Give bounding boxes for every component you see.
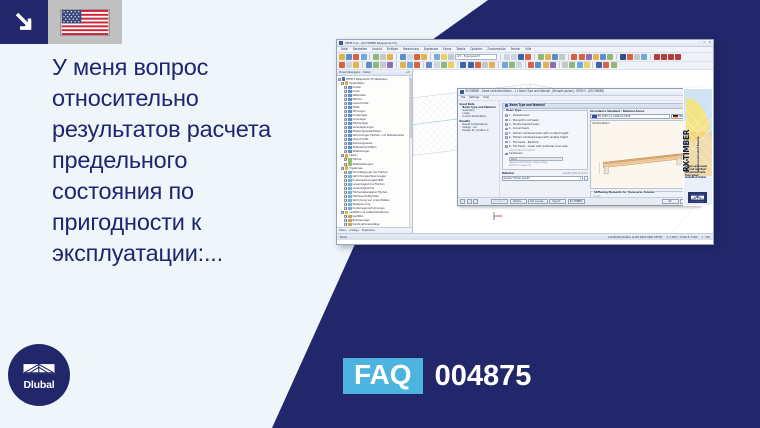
footer-icon-button[interactable] <box>467 199 472 204</box>
calculation-button[interactable]: Calculation <box>491 199 508 204</box>
toolbar-separator <box>592 62 593 68</box>
expand-icon[interactable]: + <box>344 175 347 178</box>
expand-icon[interactable]: + <box>344 150 347 153</box>
toolbar-separator <box>362 62 363 68</box>
toolbar-button[interactable] <box>380 62 386 68</box>
model-workarea[interactable]: RX-TIMBER - Glued Laminated Beam - 1.1 B… <box>413 70 713 233</box>
menu-item[interactable]: Einfügen <box>387 48 398 52</box>
toolbar-button[interactable] <box>366 62 372 68</box>
expand-icon[interactable]: + <box>344 215 347 218</box>
tree-node-icon <box>348 114 351 117</box>
tree-node-icon <box>348 207 351 210</box>
menu-item[interactable]: Ergebnisse <box>424 48 438 52</box>
transverse-tension-fieldset: Stiffening Elements for Transverse Tensi… <box>590 191 697 197</box>
cantilevers-checkbox[interactable]: Cantilevers <box>505 152 585 156</box>
expand-icon[interactable]: + <box>344 223 347 226</box>
expand-icon[interactable]: + <box>344 106 347 109</box>
beam-type-legend: Beam Type <box>505 109 522 112</box>
report-button[interactable]: Report... <box>549 199 566 204</box>
option-label: 4 - Curved beam <box>509 127 529 130</box>
dlubal-frame-icon <box>22 360 56 379</box>
radio-icon[interactable] <box>505 145 508 148</box>
toolbar-button[interactable] <box>421 54 427 60</box>
toolbar-button[interactable] <box>504 54 510 60</box>
tree-node-icon <box>348 94 351 97</box>
tree-node-icon <box>348 90 351 93</box>
beam-type-fieldset: Beam Type 1 - Parallel beam 2 - Monopitc… <box>502 110 588 170</box>
toolbar-button[interactable] <box>661 54 667 60</box>
banner-logo <box>688 192 707 203</box>
tree-node-icon <box>348 179 351 182</box>
slide-canvas: У меня вопрос относительно результатов р… <box>0 0 760 428</box>
toolbar-button[interactable] <box>482 62 488 68</box>
tree-node-label: Flächenschnittgrößen <box>353 195 379 198</box>
status-message: Bereit <box>340 235 347 238</box>
toolbar-button[interactable] <box>373 62 379 68</box>
toolbar-button[interactable] <box>571 54 577 60</box>
radio-icon[interactable] <box>505 128 508 131</box>
tree-node-icon <box>348 142 351 145</box>
navigator-tab[interactable]: Anzeige <box>349 229 359 232</box>
expand-icon[interactable]: + <box>341 154 344 157</box>
expand-icon[interactable]: + <box>344 199 347 202</box>
tree-node-label: Knoten <box>353 85 362 88</box>
menu-item[interactable]: Fenster <box>511 48 521 52</box>
toolbar-button[interactable] <box>460 62 466 68</box>
app-body: Project Navigator - Daten ▫✕ +RFEM 5 Bei… <box>337 70 713 233</box>
parallel-beam-drawing <box>591 121 696 188</box>
radio-icon[interactable] <box>505 119 508 122</box>
beam-preview: Parallel Beam <box>590 120 697 189</box>
language-bar <box>0 0 122 44</box>
expand-icon[interactable]: + <box>344 134 347 137</box>
toolbar-button[interactable] <box>387 54 393 60</box>
navigator-title: Project Navigator - Daten <box>339 71 371 75</box>
toolbar-button[interactable] <box>373 54 379 60</box>
dialog-section-header: Beam Type and Material <box>502 103 697 109</box>
dialog-footer: Calculation Details... Set. Access... Re… <box>458 197 699 205</box>
navigator-tab[interactable]: Ergebnisse <box>362 229 375 232</box>
toolbar-button[interactable] <box>543 62 549 68</box>
toolbar-button[interactable] <box>545 54 551 60</box>
tree-node-icon <box>348 138 351 141</box>
tree-node-label: Flächenlastangaben Flächen <box>353 191 388 194</box>
toolbar-button[interactable] <box>475 62 481 68</box>
faq-badge: FAQ <box>343 358 423 394</box>
tree-node-icon <box>348 199 351 202</box>
toolbar-button[interactable] <box>528 62 534 68</box>
expand-icon[interactable]: + <box>338 78 341 81</box>
preview-label: Parallel Beam <box>593 122 610 125</box>
status-scale: 1 : 100 <box>702 235 710 238</box>
expand-icon[interactable]: + <box>344 191 347 194</box>
expand-icon[interactable]: + <box>344 195 347 198</box>
toolbar-button[interactable] <box>339 62 345 68</box>
load-case-value: LF1 - Eigengewicht <box>457 55 480 58</box>
rx-timber-banner: RX-TIMBER Glued Laminated Beams Single-s… <box>683 88 713 206</box>
menu-item[interactable]: Bearbeiten <box>353 48 367 52</box>
toolbar-button[interactable] <box>434 54 440 60</box>
toolbar-button[interactable] <box>569 62 575 68</box>
dialog-nav-item-control-parameters[interactable]: Control Parameters <box>460 115 498 118</box>
menu-item[interactable]: Zusatzmodule <box>487 48 505 52</box>
app-title: RFEM 5.xx - [RX-TIMBER Beispiel-01.rf5] <box>345 41 397 44</box>
tree-node-label: Verformung von Linien/Stäben <box>353 199 390 202</box>
tree-node-icon <box>348 146 351 149</box>
toolbar-button[interactable] <box>600 54 606 60</box>
material-legend: Material <box>502 172 514 175</box>
tree-node-label: Linienlager <box>353 118 367 121</box>
toolbar-button[interactable] <box>353 62 359 68</box>
option-label: 7 - Fish beam - Parabolic <box>509 140 539 143</box>
toolbar-button[interactable] <box>511 54 517 60</box>
tree-node-icon <box>348 183 351 186</box>
tree-node-icon <box>348 122 351 125</box>
tree-node-icon <box>348 126 351 129</box>
tree-node-label: Flächen <box>353 158 363 161</box>
expand-icon[interactable]: + <box>344 183 347 186</box>
toolbar-button[interactable] <box>414 62 420 68</box>
toolbar-separator <box>500 54 501 60</box>
toolbar-separator <box>369 54 370 60</box>
dialog-nav-item-design-location[interactable]: Design for Location X <box>460 129 498 132</box>
expand-icon[interactable]: + <box>344 146 347 149</box>
checkbox-label: Cantilevers <box>509 152 523 155</box>
status-mode[interactable]: CAD/RAUM GLOBAL ALLES SNAP GRID ORTHO <box>608 235 663 238</box>
dialog-tab-header: Beam Type and Material <box>510 104 545 108</box>
tree-node-icon <box>348 171 351 174</box>
standard-value: EN 1995-1-1:2004/A1:2008 <box>598 115 631 118</box>
toolbar-button[interactable] <box>552 54 558 60</box>
toolbar-button[interactable] <box>361 54 367 60</box>
toolbar-separator <box>498 62 499 68</box>
rx-timber-dialog[interactable]: RX-TIMBER - Glued Laminated Beam - 1.1 B… <box>457 88 700 206</box>
expand-icon[interactable]: + <box>344 138 347 141</box>
menu-item[interactable]: Extras <box>443 48 451 52</box>
radio-icon[interactable] <box>505 114 508 117</box>
toolbar-separator <box>430 54 431 60</box>
transverse-legend: Stiffening Elements for Transverse Tensi… <box>593 190 655 193</box>
toolbar-button[interactable] <box>577 62 583 68</box>
menu-item[interactable]: Hilfe <box>525 48 531 52</box>
navigator-close-icon[interactable]: ▫✕ <box>406 71 410 75</box>
toolbar-button[interactable] <box>346 54 352 60</box>
expand-icon[interactable]: + <box>344 179 347 182</box>
tree-node-label: Öffnungen <box>353 110 366 113</box>
expand-icon[interactable]: + <box>344 122 347 125</box>
dialog-titlebar: RX-TIMBER - Glued Laminated Beam - 1.1 B… <box>458 89 699 96</box>
dialog-main: Input Data Beam Type and Material Geomet… <box>458 101 699 197</box>
tree-node-icon <box>348 106 351 109</box>
toolbar-separator <box>559 62 560 68</box>
checkbox-icon[interactable] <box>505 153 508 156</box>
toolbar-button[interactable] <box>448 54 454 60</box>
toolbar-button[interactable] <box>489 62 495 68</box>
rx-timber-button[interactable]: RX-TIMBER <box>568 199 585 204</box>
material-select[interactable]: Glulam Timber GL24h ▾ <box>502 176 583 181</box>
toolbar-button[interactable] <box>407 62 413 68</box>
tree-node-icon <box>348 187 351 190</box>
toolbar-button[interactable] <box>611 62 617 68</box>
toolbar-button[interactable] <box>586 54 592 60</box>
expand-icon[interactable]: + <box>344 110 347 113</box>
toolbar-button[interactable] <box>559 54 565 60</box>
tree-node-icon <box>348 175 351 178</box>
de-flag-icon <box>673 115 678 118</box>
download-button[interactable] <box>0 0 48 44</box>
toolbar-separator <box>396 54 397 60</box>
tree-node-label: Stabbelastungen <box>353 162 374 165</box>
tree-node-icon <box>348 162 351 165</box>
tree-node-label: Stabspannung <box>353 203 371 206</box>
expand-icon[interactable]: + <box>341 167 344 170</box>
tree-node-icon <box>348 110 351 113</box>
tree-node-icon <box>348 134 351 137</box>
beam-type-column: Beam Type 1 - Parallel beam 2 - Monopitc… <box>502 110 588 197</box>
toolbar-button[interactable] <box>400 54 406 60</box>
toolbar-button[interactable] <box>627 54 633 60</box>
load-case-combo[interactable]: LF1 - Eigengewicht <box>455 54 497 60</box>
app-toolbar-row1[interactable]: LF1 - Eigengewicht <box>337 53 713 62</box>
material-dimension-note: GL24h h300 (2.4.4.5) <box>563 172 588 175</box>
option-label: 6 - Pitched cambered beam with variable … <box>509 136 568 139</box>
project-navigator[interactable]: Project Navigator - Daten ▫✕ +RFEM 5 Bei… <box>337 70 413 233</box>
hint-text: Notch on supports <box>505 164 585 167</box>
expand-icon[interactable]: + <box>344 94 347 97</box>
tree-node-label: Linien <box>353 89 360 92</box>
toolbar-button[interactable] <box>434 62 440 68</box>
close-icon[interactable]: ✕ <box>708 41 711 44</box>
toolbar-separator <box>534 54 535 60</box>
footer-icon-button[interactable] <box>460 199 465 204</box>
toolbar-button[interactable] <box>380 54 386 60</box>
toolbar-button[interactable] <box>538 54 544 60</box>
expand-icon[interactable]: + <box>344 114 347 117</box>
menu-item[interactable]: Tabelle <box>456 48 465 52</box>
toolbar-button[interactable] <box>584 62 590 68</box>
expand-icon[interactable]: + <box>344 203 347 206</box>
toolbar-button[interactable] <box>414 54 420 60</box>
tree-node-label: Verformungen/Spannungen <box>353 174 387 177</box>
tree-node-icon <box>348 118 351 121</box>
tree-node-icon <box>348 219 351 222</box>
tree-node-icon <box>345 154 348 157</box>
standard-legend: Accordance Standard / National Annex <box>590 110 697 113</box>
banner-blurb: Single-span beam for roof and floor stru… <box>685 166 711 180</box>
tree-node-icon <box>345 166 348 169</box>
expand-icon[interactable]: + <box>344 158 347 161</box>
toolbar-button[interactable] <box>596 62 602 68</box>
tree-node-icon <box>348 215 351 218</box>
tree-node-label: Knotenlagerverformungen <box>353 207 385 210</box>
toolbar-button[interactable] <box>550 62 556 68</box>
toolbar-button[interactable] <box>668 54 674 60</box>
section-icon <box>505 104 508 107</box>
toolbar-button[interactable] <box>562 62 568 68</box>
expand-icon[interactable]: + <box>344 126 347 129</box>
tree-node-icon <box>345 81 348 84</box>
ok-button[interactable]: OK <box>662 199 679 204</box>
navigator-tab[interactable]: Daten <box>339 229 346 232</box>
toolbar-separator <box>650 54 651 60</box>
details-button[interactable]: Details... <box>510 199 527 204</box>
tree-node-label: Flächen <box>353 98 363 101</box>
dlubal-frame-icon <box>690 194 705 202</box>
toolbar-button[interactable] <box>603 62 609 68</box>
toolbar-button[interactable] <box>407 54 413 60</box>
toolbar-button[interactable] <box>468 62 474 68</box>
toolbar-button[interactable] <box>509 62 515 68</box>
dialog-menu-settings[interactable]: Settings <box>469 96 479 100</box>
minimize-icon[interactable]: – <box>699 41 701 44</box>
toolbar-button[interactable] <box>339 54 345 60</box>
toolbar-button[interactable] <box>353 54 359 60</box>
toolbar-button[interactable] <box>641 54 647 60</box>
toolbar-button[interactable] <box>620 54 626 60</box>
tree-node-icon <box>345 211 348 214</box>
toolbar-button[interactable] <box>525 54 531 60</box>
expand-icon[interactable]: + <box>344 86 347 89</box>
toolbar-button[interactable] <box>579 54 585 60</box>
expand-icon[interactable]: + <box>344 207 347 210</box>
tree-node-icon <box>342 77 345 80</box>
navigator-scrollbar[interactable] <box>409 76 412 227</box>
toolbar-button[interactable] <box>441 62 447 68</box>
toolbar-button[interactable] <box>441 54 447 60</box>
toolbar-separator <box>457 62 458 68</box>
tree-node-label: Durchbiegungen der Flächen <box>353 170 388 173</box>
tree-node-icon <box>348 130 351 133</box>
menu-item[interactable]: Berechnung <box>403 48 419 52</box>
tree-node-icon <box>348 102 351 105</box>
tree-node-label: Knotenlager <box>353 114 368 117</box>
toolbar-separator <box>568 54 569 60</box>
expand-icon[interactable]: + <box>344 130 347 133</box>
set-access-button[interactable]: Set. Access... <box>528 199 548 204</box>
dlubal-logo[interactable]: Dlubal <box>8 344 70 406</box>
menu-item[interactable]: Optionen <box>470 48 482 52</box>
toolbar-button[interactable] <box>400 62 406 68</box>
tree-node-icon <box>348 203 351 206</box>
toolbar-button[interactable] <box>426 62 432 68</box>
tree-node-label: Ergebnisse <box>349 166 362 169</box>
toolbar-button[interactable] <box>535 62 541 68</box>
tree-node-label: Knotenlasten/Lagerkräfte <box>353 178 384 181</box>
radio-icon[interactable] <box>505 132 508 135</box>
eu-flag-icon <box>592 115 597 118</box>
tree-node-label: Modelldaten <box>349 81 364 84</box>
tree-node-icon <box>348 86 351 89</box>
navigator-tabs[interactable]: Daten Anzeige Ergebnisse <box>337 227 412 233</box>
maximize-icon[interactable]: ▫ <box>703 41 705 44</box>
dialog-menu-file[interactable]: File <box>461 96 465 100</box>
dialog-content: Beam Type and Material Beam Type <box>500 101 699 197</box>
dialog-navigator[interactable]: Input Data Beam Type and Material Geomet… <box>458 101 500 197</box>
expand-icon[interactable]: + <box>344 118 347 121</box>
toolbar-button[interactable] <box>502 62 508 68</box>
toolbar-button[interactable] <box>387 62 393 68</box>
tree-node-label: Lastfälle und Lastkombinationen <box>349 211 389 214</box>
toolbar-button[interactable] <box>634 54 640 60</box>
us-flag-icon <box>60 9 110 36</box>
radio-icon[interactable] <box>505 141 508 144</box>
toolbar-button[interactable] <box>593 54 599 60</box>
tree-node-icon <box>348 158 351 161</box>
expand-icon[interactable]: + <box>344 219 347 222</box>
expand-icon[interactable]: + <box>344 187 347 190</box>
expand-icon[interactable]: + <box>344 163 347 166</box>
toolbar-separator <box>616 54 617 60</box>
axes-triad-icon <box>493 211 503 221</box>
language-flag-button[interactable] <box>48 0 122 44</box>
material-library-button[interactable] <box>584 176 589 181</box>
toolbar-button[interactable] <box>675 54 681 60</box>
toolbar-separator <box>423 62 424 68</box>
chevron-down-icon[interactable]: ▾ <box>580 177 581 180</box>
toolbar-button[interactable] <box>654 54 660 60</box>
navigator-tree[interactable]: +RFEM 5 Beispiel-01.rf5 (Beispiele)+Mode… <box>337 76 412 227</box>
app-icon <box>339 41 343 45</box>
expand-icon[interactable]: + <box>344 171 347 174</box>
arrow-down-right-icon <box>11 9 37 35</box>
app-toolbar-row2[interactable] <box>337 62 713 71</box>
expand-icon[interactable]: + <box>341 82 344 85</box>
radio-icon[interactable] <box>505 136 508 139</box>
toolbar-button[interactable] <box>516 62 522 68</box>
expand-icon[interactable]: + <box>344 142 347 145</box>
option-label: 1 - Parallel beam <box>509 114 530 117</box>
toolbar-button[interactable] <box>346 62 352 68</box>
material-value: Glulam Timber GL24h <box>504 177 530 180</box>
standard-select[interactable]: EN 1995-1-1:2004/A1:2008 <box>590 114 670 119</box>
toolbar-button[interactable] <box>448 62 454 68</box>
expand-icon[interactable]: + <box>344 98 347 101</box>
toolbar-separator <box>525 62 526 68</box>
dlubal-wordmark: Dlubal <box>24 380 55 391</box>
tree-node-icon <box>348 195 351 198</box>
toolbar-separator <box>396 62 397 68</box>
menu-item[interactable]: Datei <box>341 48 348 52</box>
faq-number: 004875 <box>435 362 532 391</box>
menu-item[interactable]: Ansicht <box>372 48 382 52</box>
option-label: 2 - Monopitch roof beam <box>509 118 539 121</box>
tree-node-label: Flächenlager <box>353 122 369 125</box>
page-title: У меня вопрос относительно результатов р… <box>52 52 302 269</box>
rx-timber-icon <box>460 90 464 94</box>
toolbar-button[interactable] <box>607 54 613 60</box>
option-label: 5 - Pitched cambered beam with constant … <box>509 132 569 135</box>
dialog-menu-help[interactable]: Help <box>483 96 489 100</box>
option-label: 8 - Fish beam - Linear with rectilinear … <box>509 145 568 148</box>
tree-node-label: Stäbe <box>353 106 360 109</box>
expand-icon[interactable]: + <box>341 211 344 214</box>
footer-icon-button[interactable] <box>473 199 478 204</box>
tree-node-label: Lineardiagramme Flächen <box>353 183 385 186</box>
application-screenshot[interactable]: RFEM 5.xx - [RX-TIMBER Beispiel-01.rf5] … <box>336 39 714 245</box>
tree-node-label: Materialien <box>353 93 367 96</box>
tree-node-icon <box>348 223 351 226</box>
transverse-sub-legend: Inputs <box>593 195 694 197</box>
standard-and-preview-column: Accordance Standard / National Annex EN … <box>590 110 697 197</box>
tree-node-icon <box>348 98 351 101</box>
material-section: Material GL24h h300 (2.4.4.5) Glulam Tim… <box>502 172 588 181</box>
window-controls[interactable]: – ▫ ✕ <box>699 41 711 44</box>
tree-node-label: RFEM 5 Beispiel-01.rf5 (Beispiele) <box>346 77 387 80</box>
expand-icon[interactable]: + <box>344 90 347 93</box>
toolbar-button[interactable] <box>518 54 524 60</box>
expand-icon[interactable]: + <box>344 102 347 105</box>
radio-icon[interactable] <box>505 123 508 126</box>
